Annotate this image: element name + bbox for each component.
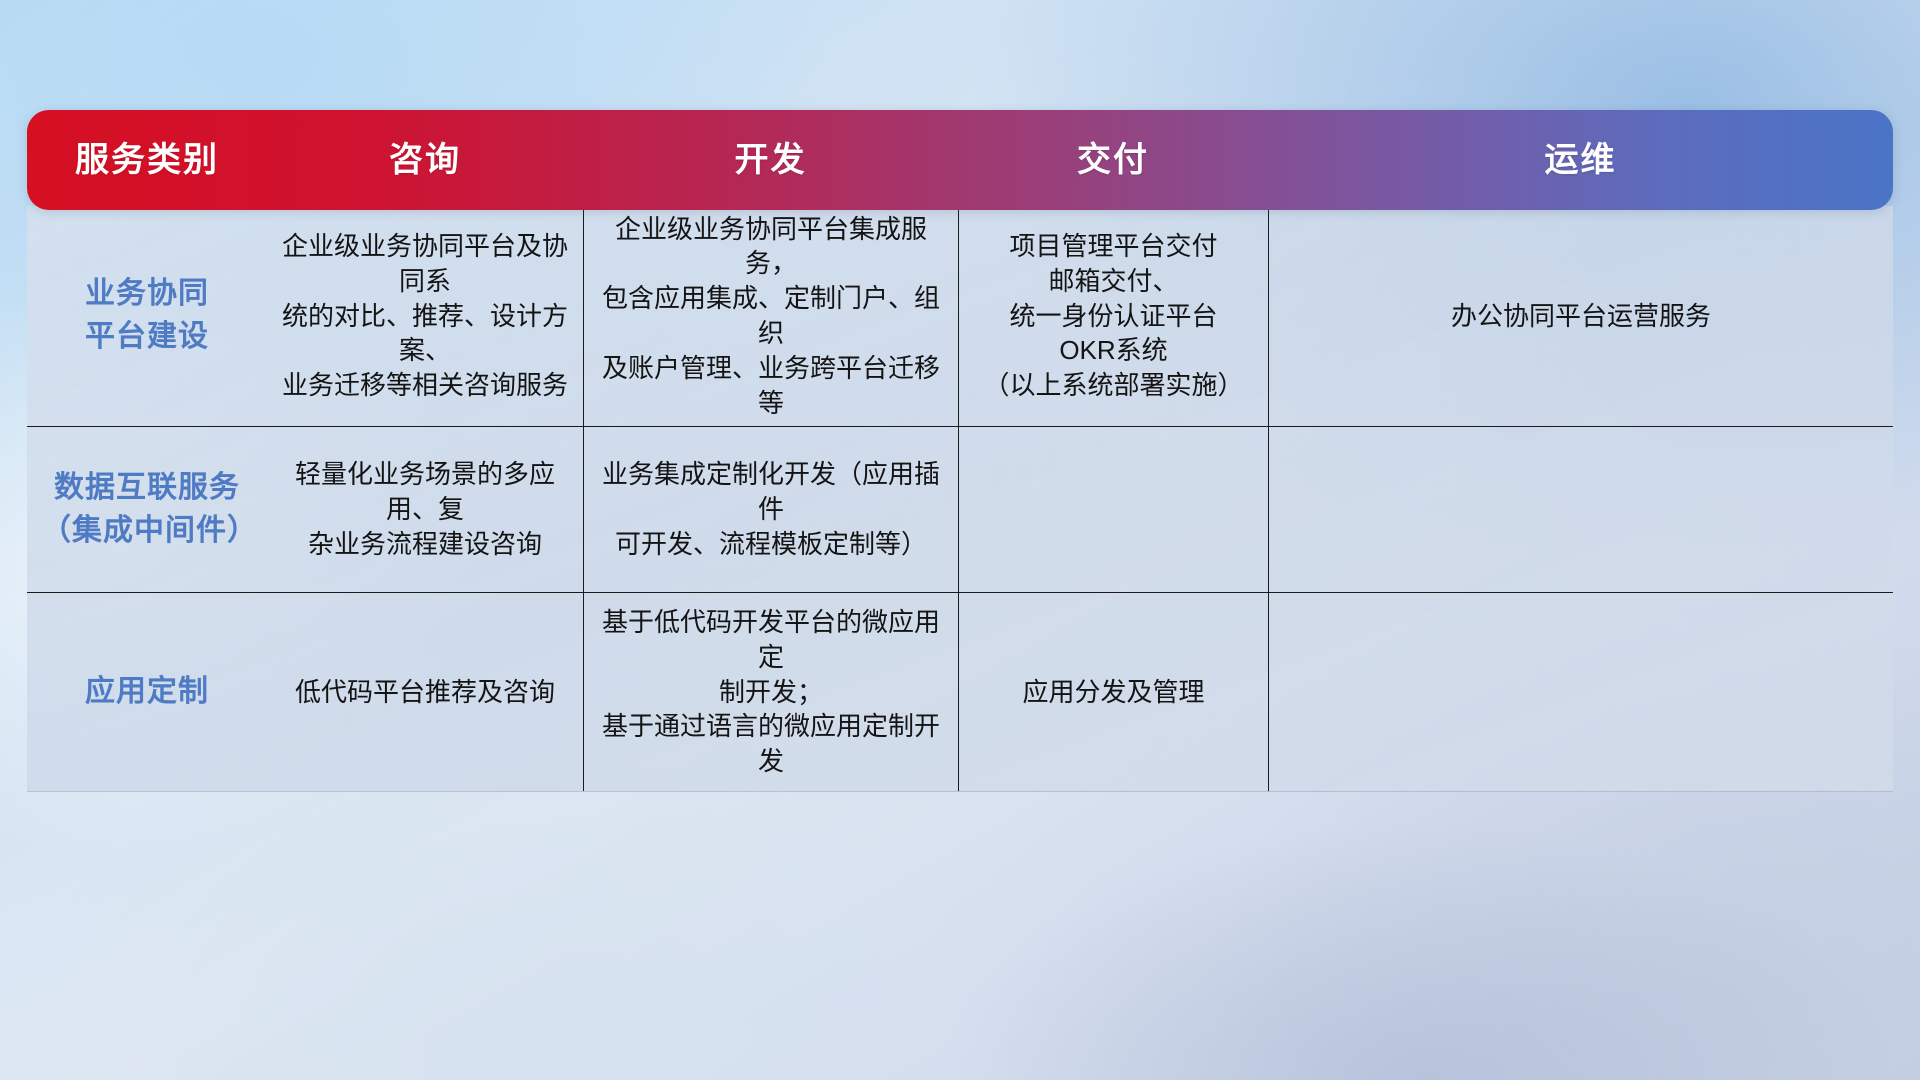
- cell-operations: 办公协同平台运营服务: [1268, 206, 1893, 426]
- table-row: 应用定制 低代码平台推荐及咨询 基于低代码开发平台的微应用定 制开发； 基于通过…: [27, 592, 1893, 791]
- table-body: 业务协同 平台建设 企业级业务协同平台及协同系 统的对比、推荐、设计方案、 业务…: [27, 206, 1893, 792]
- column-header-delivery: 交付: [958, 143, 1268, 177]
- table-row: 数据互联服务 （集成中间件） 轻量化业务场景的多应用、复 杂业务流程建设咨询 业…: [27, 426, 1893, 592]
- row-category-label: 数据互联服务 （集成中间件）: [27, 427, 267, 592]
- row-category-label: 应用定制: [27, 593, 267, 791]
- column-header-development: 开发: [583, 143, 958, 177]
- cell-consulting: 低代码平台推荐及咨询: [267, 593, 583, 791]
- cell-consulting: 企业级业务协同平台及协同系 统的对比、推荐、设计方案、 业务迁移等相关咨询服务: [267, 206, 583, 426]
- cell-operations: [1268, 593, 1893, 791]
- service-matrix-table: 服务类别 咨询 开发 交付 运维 业务协同 平台建设 企业级业务协同平台及协同系…: [27, 110, 1893, 792]
- cell-operations: [1268, 427, 1893, 592]
- row-category-label: 业务协同 平台建设: [27, 206, 267, 426]
- cell-development: 基于低代码开发平台的微应用定 制开发； 基于通过语言的微应用定制开发: [583, 593, 958, 791]
- cell-delivery: 应用分发及管理: [958, 593, 1268, 791]
- cell-development: 企业级业务协同平台集成服务， 包含应用集成、定制门户、组织 及账户管理、业务跨平…: [583, 206, 958, 426]
- column-header-service-category: 服务类别: [27, 143, 267, 177]
- column-header-operations: 运维: [1268, 143, 1893, 177]
- column-header-consulting: 咨询: [267, 143, 583, 177]
- cell-delivery: 项目管理平台交付 邮箱交付、 统一身份认证平台 OKR系统 （以上系统部署实施）: [958, 206, 1268, 426]
- cell-consulting: 轻量化业务场景的多应用、复 杂业务流程建设咨询: [267, 427, 583, 592]
- table-row: 业务协同 平台建设 企业级业务协同平台及协同系 统的对比、推荐、设计方案、 业务…: [27, 206, 1893, 426]
- cell-delivery: [958, 427, 1268, 592]
- table-header-row: 服务类别 咨询 开发 交付 运维: [27, 110, 1893, 210]
- cell-development: 业务集成定制化开发（应用插件 可开发、流程模板定制等）: [583, 427, 958, 592]
